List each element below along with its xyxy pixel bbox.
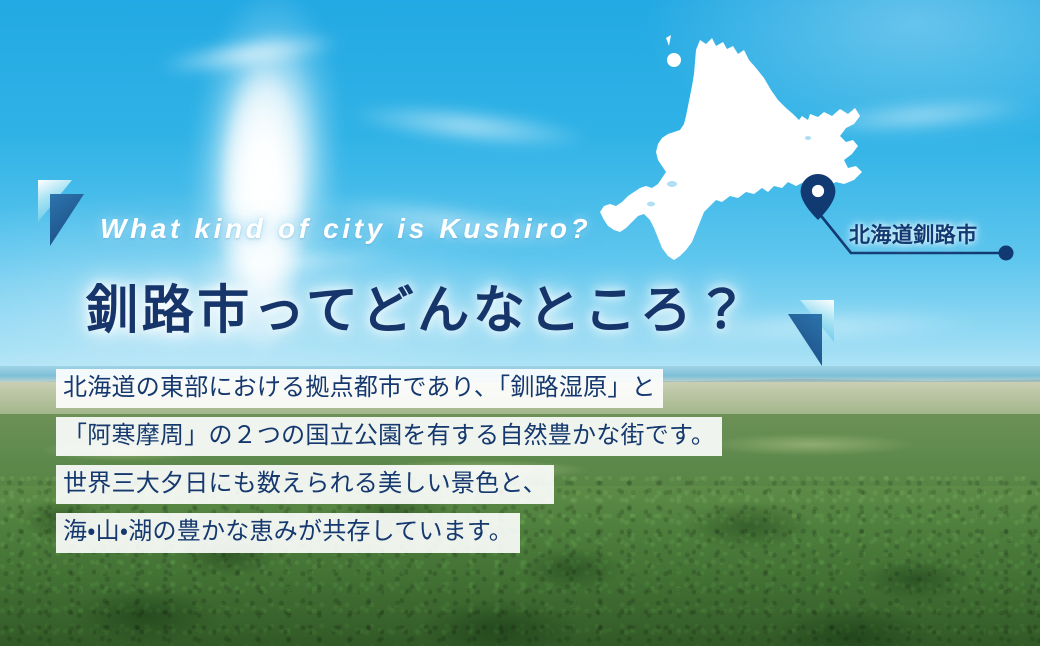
english-subtitle: What kind of city is Kushiro?	[100, 213, 591, 245]
map-label: 北海道釧路市	[849, 219, 978, 249]
cloud-wisp-icon	[98, 12, 363, 102]
body-line: 世界三大夕日にも数えられる美しい景色と、	[56, 465, 554, 504]
hokkaido-map-icon	[600, 35, 862, 260]
body-line: 北海道の東部における拠点都市であり、「釧路湿原」と	[56, 369, 663, 408]
hokkaido-map	[596, 16, 896, 300]
body-line: 「阿寒摩周」の２つの国立公園を有する自然豊かな街です。	[56, 417, 722, 456]
kushiro-hero-banner: 北海道釧路市	[0, 0, 1040, 646]
page-title: 釧路市ってどんなところ？	[86, 268, 751, 343]
arrow-accent-icon	[32, 176, 102, 256]
body-line: 海・山・湖の豊かな恵みが共存しています。	[56, 513, 520, 552]
arrow-accent-mirrored-icon	[770, 296, 840, 376]
body-paragraph: 北海道の東部における拠点都市であり、「釧路湿原」と 「阿寒摩周」の２つの国立公園…	[56, 369, 722, 553]
